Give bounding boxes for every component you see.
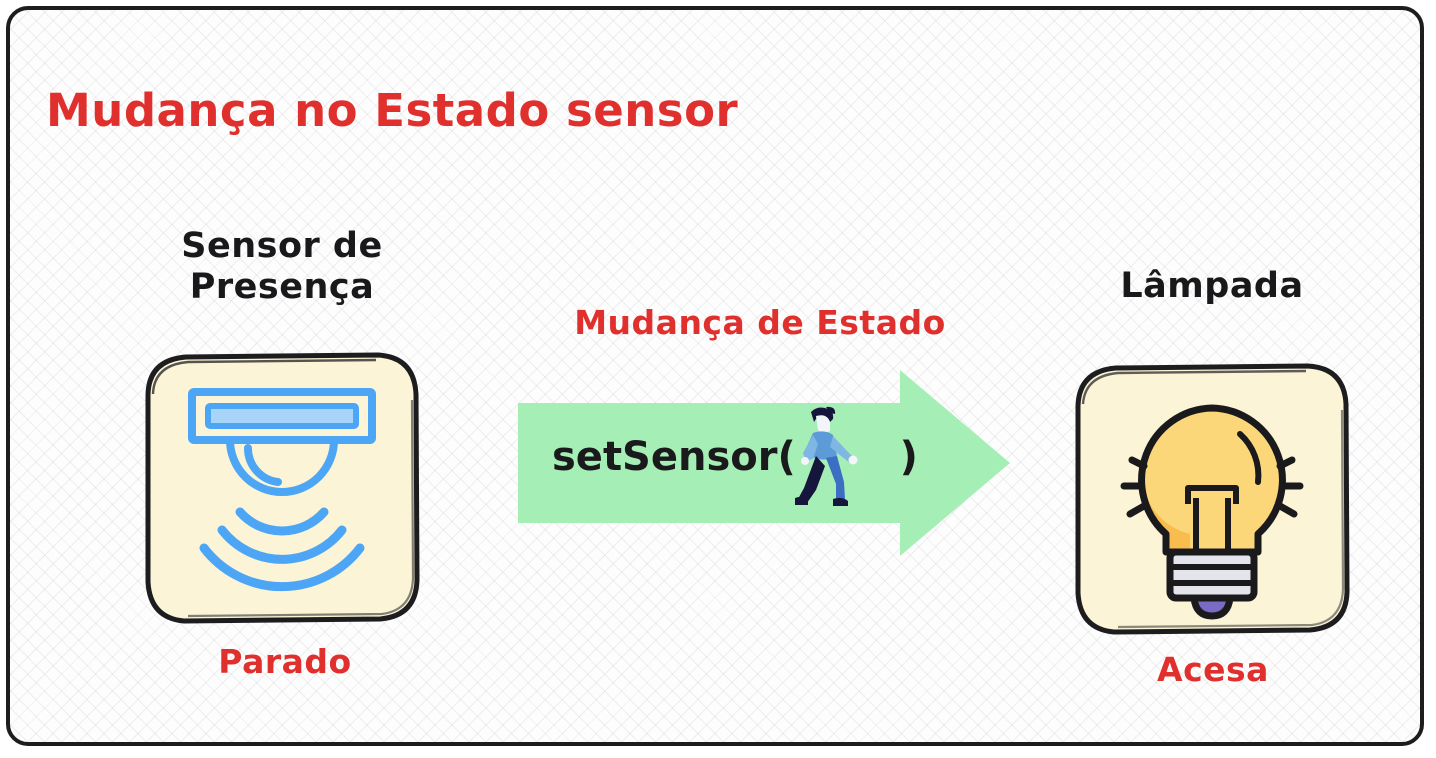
lamp-node-label: Lâmpada [1072, 266, 1352, 307]
walking-person-icon [792, 404, 868, 510]
walker-hand-back [801, 457, 809, 465]
walker-shoe-front [833, 498, 848, 506]
walker-hand-front [849, 456, 858, 465]
diagram-panel: Mudança no Estado sensor Sensor de Prese… [6, 6, 1424, 746]
bulb-tip [1194, 598, 1230, 616]
sensor-state-badge: Parado [140, 642, 430, 681]
walking-person-graphic [792, 404, 868, 510]
transition-caption: Mudança de Estado [550, 303, 970, 342]
transition-call-close: ) [900, 434, 918, 480]
transition-call-label: setSensor( [552, 434, 796, 480]
page-title: Mudança no Estado sensor [46, 88, 738, 133]
sensor-node-label: Sensor de Presença [132, 226, 432, 309]
lamp-state-badge: Acesa [1068, 650, 1358, 689]
sensor-node-card[interactable] [140, 344, 424, 632]
diagram-canvas: Mudança no Estado sensor Sensor de Prese… [0, 0, 1436, 758]
sensor-lens [208, 406, 356, 426]
lamp-card-graphic [1070, 356, 1354, 644]
lamp-node-card[interactable] [1070, 356, 1354, 644]
walker-leg-front [826, 456, 845, 499]
bulb-base [1170, 552, 1254, 598]
sensor-card-graphic [140, 344, 424, 632]
